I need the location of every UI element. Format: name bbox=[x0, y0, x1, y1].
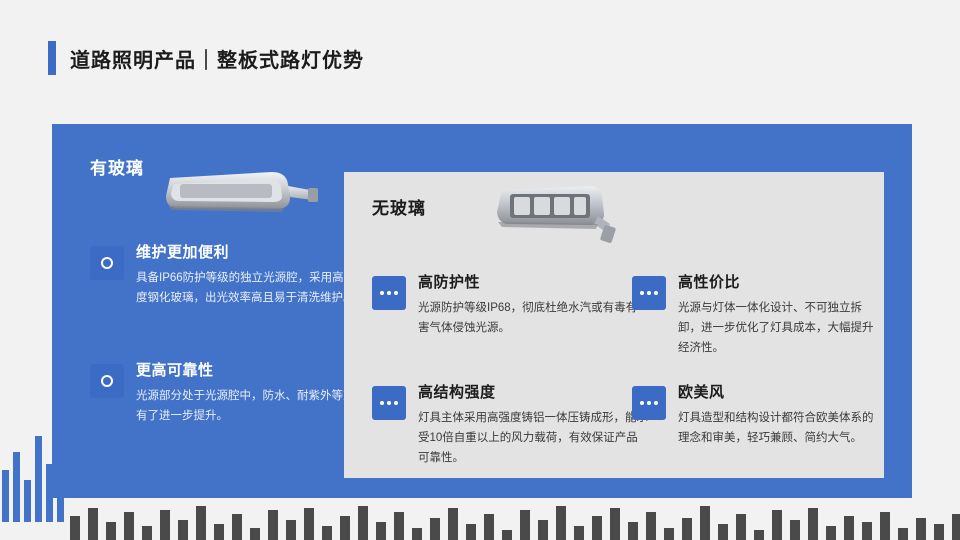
feature-title: 高结构强度 bbox=[418, 384, 648, 402]
title-accent-bar bbox=[48, 41, 56, 75]
left-column-heading: 有玻璃 bbox=[90, 154, 144, 179]
feature-title: 高性价比 bbox=[678, 274, 884, 292]
feature-description: 具备IP66防护等级的独立光源腔，采用高强度钢化玻璃，出光效率高且易于清洗维护。 bbox=[136, 268, 366, 308]
ring-icon bbox=[90, 364, 124, 398]
street-lamp-no-glass-image bbox=[486, 180, 620, 250]
dots-icon bbox=[632, 386, 666, 420]
dots-icon bbox=[372, 386, 406, 420]
feature-description: 光源防护等级IP68，彻底杜绝水汽或有毒有害气体侵蚀光源。 bbox=[418, 298, 648, 338]
feature-item: 高性价比 光源与灯体一体化设计、不可独立拆卸，进一步优化了灯具成本，大幅提升经济… bbox=[632, 274, 884, 358]
feature-description: 灯具造型和结构设计都符合欧美体系的理念和审美，轻巧兼顾、简约大气。 bbox=[678, 408, 884, 448]
dots-icon bbox=[632, 276, 666, 310]
feature-title: 更高可靠性 bbox=[136, 362, 366, 380]
page-title: 道路照明产品｜整板式路灯优势 bbox=[48, 38, 364, 78]
feature-item: 更高可靠性 光源部分处于光源腔中，防水、耐紫外等方面有了进一步提升。 bbox=[90, 362, 366, 426]
feature-description: 光源与灯体一体化设计、不可独立拆卸，进一步优化了灯具成本，大幅提升经济性。 bbox=[678, 298, 884, 358]
feature-title: 欧美风 bbox=[678, 384, 884, 402]
street-lamp-with-glass-image bbox=[160, 164, 320, 226]
ring-icon bbox=[90, 246, 124, 280]
feature-description: 光源部分处于光源腔中，防水、耐紫外等方面有了进一步提升。 bbox=[136, 386, 366, 426]
card-heading: 无玻璃 bbox=[372, 194, 426, 219]
feature-item: 高防护性 光源防护等级IP68，彻底杜绝水汽或有毒有害气体侵蚀光源。 bbox=[372, 274, 648, 338]
feature-title: 维护更加便利 bbox=[136, 244, 366, 262]
feature-description: 灯具主体采用高强度铸铝一体压铸成形，能承受10倍自重以上的风力载荷，有效保证产品… bbox=[418, 408, 648, 468]
decorative-bars-bottom bbox=[70, 506, 960, 540]
feature-item: 欧美风 灯具造型和结构设计都符合欧美体系的理念和审美，轻巧兼顾、简约大气。 bbox=[632, 384, 884, 448]
feature-item: 高结构强度 灯具主体采用高强度铸铝一体压铸成形，能承受10倍自重以上的风力载荷，… bbox=[372, 384, 648, 468]
decorative-bars-left bbox=[0, 412, 64, 522]
main-panel: 有玻璃 维护更加便利 具备IP66防护等级的独立光源腔，采用高强度钢化玻璃，出光… bbox=[52, 124, 912, 498]
dots-icon bbox=[372, 276, 406, 310]
no-glass-card: 无玻璃 高防护性 光源防护等级 bbox=[344, 172, 884, 478]
page-title-text: 道路照明产品｜整板式路灯优势 bbox=[70, 44, 364, 73]
feature-item: 维护更加便利 具备IP66防护等级的独立光源腔，采用高强度钢化玻璃，出光效率高且… bbox=[90, 244, 366, 308]
feature-title: 高防护性 bbox=[418, 274, 648, 292]
